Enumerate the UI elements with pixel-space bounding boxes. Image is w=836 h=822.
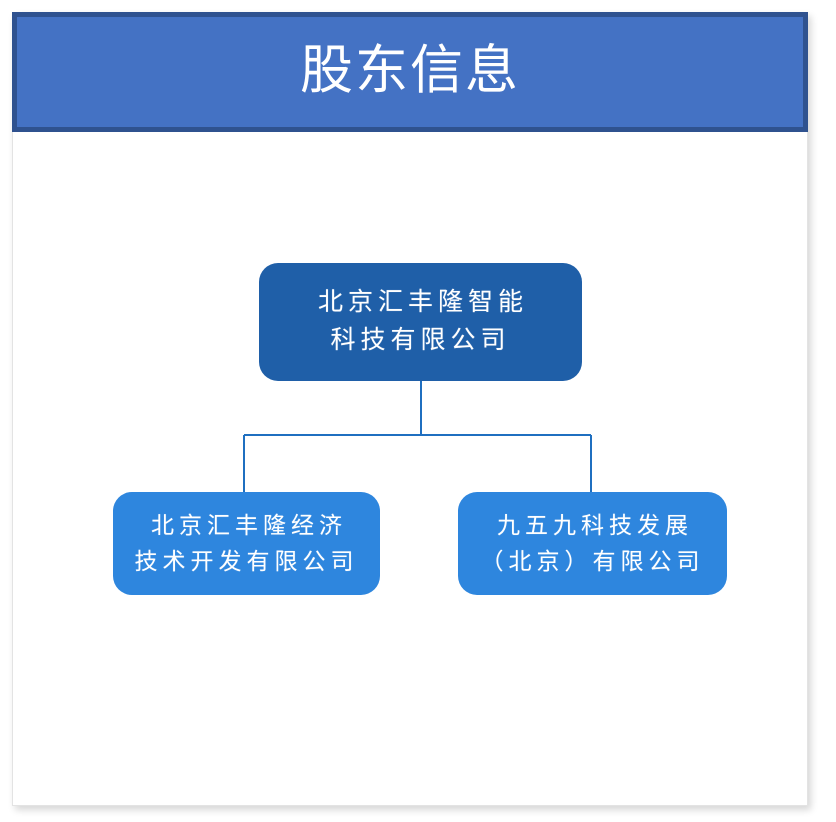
org-node-root[interactable]: 北京汇丰隆智能 科技有限公司	[259, 263, 582, 381]
page-title: 股东信息	[300, 44, 520, 101]
org-chart-canvas: 北京汇丰隆智能 科技有限公司 北京汇丰隆经济 技术开发有限公司 九五九科技发展 …	[12, 132, 808, 806]
org-node-child-2-label: 九五九科技发展 （北京）有限公司	[481, 508, 705, 579]
connector-lines	[12, 132, 808, 806]
card-header: 股东信息	[12, 12, 808, 132]
org-node-child-1[interactable]: 北京汇丰隆经济 技术开发有限公司	[113, 492, 380, 595]
org-node-root-label: 北京汇丰隆智能 科技有限公司	[313, 284, 528, 360]
org-node-child-1-label: 北京汇丰隆经济 技术开发有限公司	[135, 508, 359, 579]
screenshot-root: 股东信息 北京汇丰隆智能 科技有限公司 北京汇丰隆经济 技术开发有限公司 九五九…	[0, 0, 836, 822]
org-node-child-2[interactable]: 九五九科技发展 （北京）有限公司	[458, 492, 727, 595]
